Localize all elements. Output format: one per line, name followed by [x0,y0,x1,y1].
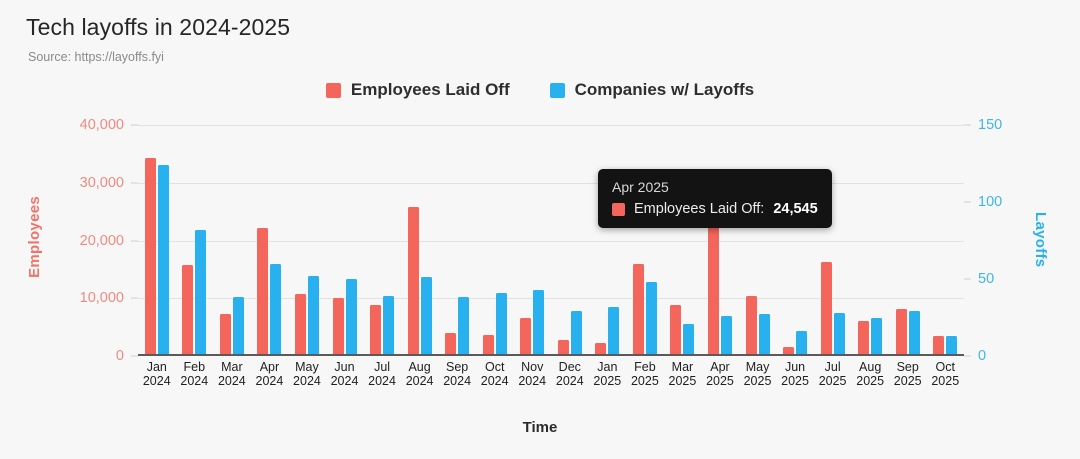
bar-group[interactable] [251,125,289,356]
x-axis-tick-label: Sep2024 [438,360,476,388]
bar-companies[interactable] [834,313,845,356]
x-axis-tick-label: Oct2025 [926,360,964,388]
bar-companies[interactable] [308,276,319,356]
bar-companies[interactable] [270,264,281,356]
x-axis-tick-label: Jan2024 [138,360,176,388]
y-axis-left-tick-mark [131,240,138,241]
bar-companies[interactable] [421,277,432,356]
bar-group[interactable] [138,125,176,356]
bar-companies[interactable] [909,311,920,356]
chart-legend: Employees Laid Off Companies w/ Layoffs [0,80,1080,100]
y-axis-right-tick-mark [964,356,971,357]
bar-group[interactable] [438,125,476,356]
chart-tooltip: Apr 2025 Employees Laid Off: 24,545 [598,169,832,228]
bar-companies[interactable] [946,336,957,356]
bar-employees[interactable] [145,158,156,356]
x-axis-tick-label: Jan2025 [589,360,627,388]
bar-companies[interactable] [458,297,469,356]
x-axis-tick-label: May2025 [739,360,777,388]
bar-employees[interactable] [896,309,907,356]
x-axis-tick-label: Jun2024 [326,360,364,388]
x-axis-tick-label: Apr2025 [701,360,739,388]
tooltip-title: Apr 2025 [612,179,818,195]
legend-swatch-companies-icon [550,83,565,98]
chart-title: Tech layoffs in 2024-2025 [26,14,290,41]
bar-group[interactable] [213,125,251,356]
bar-companies[interactable] [195,230,206,356]
y-axis-right-tick-label: 0 [978,348,986,364]
bar-employees[interactable] [295,294,306,356]
legend-item-employees[interactable]: Employees Laid Off [326,80,510,100]
bar-companies[interactable] [383,296,394,356]
bar-groups [138,125,964,356]
y-axis-left-title: Employees [26,196,43,278]
x-axis-tick-label: Nov2024 [513,360,551,388]
x-axis-tick-labels: Jan2024Feb2024Mar2024Apr2024May2024Jun20… [138,360,964,388]
y-axis-left-tick-label: 0 [116,348,124,364]
bar-group[interactable] [176,125,214,356]
bar-companies[interactable] [759,314,770,356]
bar-group[interactable] [851,125,889,356]
bar-employees[interactable] [220,314,231,356]
bar-companies[interactable] [533,290,544,356]
bar-employees[interactable] [746,296,757,356]
y-axis-left-tick-label: 40,000 [80,117,124,133]
x-axis-title: Time [0,419,1080,436]
bar-employees[interactable] [633,264,644,356]
tooltip-row: Employees Laid Off: 24,545 [612,201,818,217]
y-axis-left-tick-mark [131,298,138,299]
bar-group[interactable] [814,125,852,356]
bar-employees[interactable] [333,298,344,356]
bar-group[interactable] [926,125,964,356]
bar-group[interactable] [551,125,589,356]
bar-group[interactable] [326,125,364,356]
bar-group[interactable] [363,125,401,356]
tooltip-swatch-icon [612,203,625,216]
bar-companies[interactable] [721,316,732,356]
bar-employees[interactable] [670,305,681,356]
y-axis-left-tick-label: 30,000 [80,175,124,191]
bar-group[interactable] [288,125,326,356]
bar-companies[interactable] [871,318,882,357]
y-axis-right-tick-mark [964,202,971,203]
y-axis-left-tick-mark [131,182,138,183]
bar-group[interactable] [739,125,777,356]
chart-source-caption: Source: https://layoffs.fyi [28,50,164,64]
x-axis-tick-label: Aug2024 [401,360,439,388]
legend-item-companies[interactable]: Companies w/ Layoffs [550,80,754,100]
y-axis-right-title: Layoffs [1032,212,1049,267]
y-axis-right-tick-mark [964,125,971,126]
bar-companies[interactable] [646,282,657,356]
y-axis-right-tick-label: 150 [978,117,1002,133]
bar-companies[interactable] [683,324,694,356]
x-axis-tick-label: Jul2024 [363,360,401,388]
bar-group[interactable] [589,125,627,356]
chart-container: Tech layoffs in 2024-2025 Source: https:… [0,0,1080,459]
bar-group[interactable] [701,125,739,356]
x-axis-tick-label: Apr2024 [251,360,289,388]
x-axis-tick-label: Jul2025 [814,360,852,388]
bar-companies[interactable] [796,331,807,356]
legend-label-employees: Employees Laid Off [351,80,510,100]
tooltip-series-label: Employees Laid Off: [634,201,764,217]
plot-area: 010,00020,00030,00040,000 050100150 [138,125,964,356]
bar-group[interactable] [626,125,664,356]
bar-employees[interactable] [370,305,381,356]
bar-group[interactable] [776,125,814,356]
y-axis-right-tick-mark [964,279,971,280]
legend-label-companies: Companies w/ Layoffs [575,80,754,100]
x-axis-tick-label: May2024 [288,360,326,388]
bar-employees[interactable] [858,321,869,356]
bar-employees[interactable] [933,336,944,356]
bar-companies[interactable] [346,279,357,356]
x-axis-tick-label: Feb2025 [626,360,664,388]
x-axis-tick-label: Feb2024 [176,360,214,388]
bar-employees[interactable] [520,318,531,356]
y-axis-left-tick-mark [131,125,138,126]
bar-employees[interactable] [408,207,419,356]
legend-swatch-employees-icon [326,83,341,98]
y-axis-right-tick-label: 50 [978,271,994,287]
bar-companies[interactable] [233,297,244,356]
x-axis-tick-label: Mar2025 [664,360,702,388]
y-axis-right-tick-label: 100 [978,194,1002,210]
x-axis-baseline [138,354,964,356]
bar-group[interactable] [664,125,702,356]
x-axis-tick-label: Dec2024 [551,360,589,388]
bar-employees[interactable] [821,262,832,356]
y-axis-left-tick-label: 20,000 [80,233,124,249]
bar-companies[interactable] [608,307,619,356]
bar-group[interactable] [513,125,551,356]
bar-group[interactable] [401,125,439,356]
bar-group[interactable] [889,125,927,356]
bar-companies[interactable] [158,165,169,356]
bar-group[interactable] [476,125,514,356]
x-axis-tick-label: Mar2024 [213,360,251,388]
bar-employees[interactable] [708,214,719,356]
x-axis-tick-label: Oct2024 [476,360,514,388]
bar-companies[interactable] [496,293,507,356]
bar-employees[interactable] [257,228,268,356]
tooltip-value: 24,545 [773,201,817,217]
bar-employees[interactable] [182,265,193,356]
y-axis-left-tick-label: 10,000 [80,290,124,306]
x-axis-tick-label: Jun2025 [776,360,814,388]
bar-companies[interactable] [571,311,582,356]
x-axis-tick-label: Sep2025 [889,360,927,388]
bar-employees[interactable] [483,335,494,356]
x-axis-tick-label: Aug2025 [851,360,889,388]
y-axis-left-tick-mark [131,356,138,357]
bar-employees[interactable] [445,333,456,356]
